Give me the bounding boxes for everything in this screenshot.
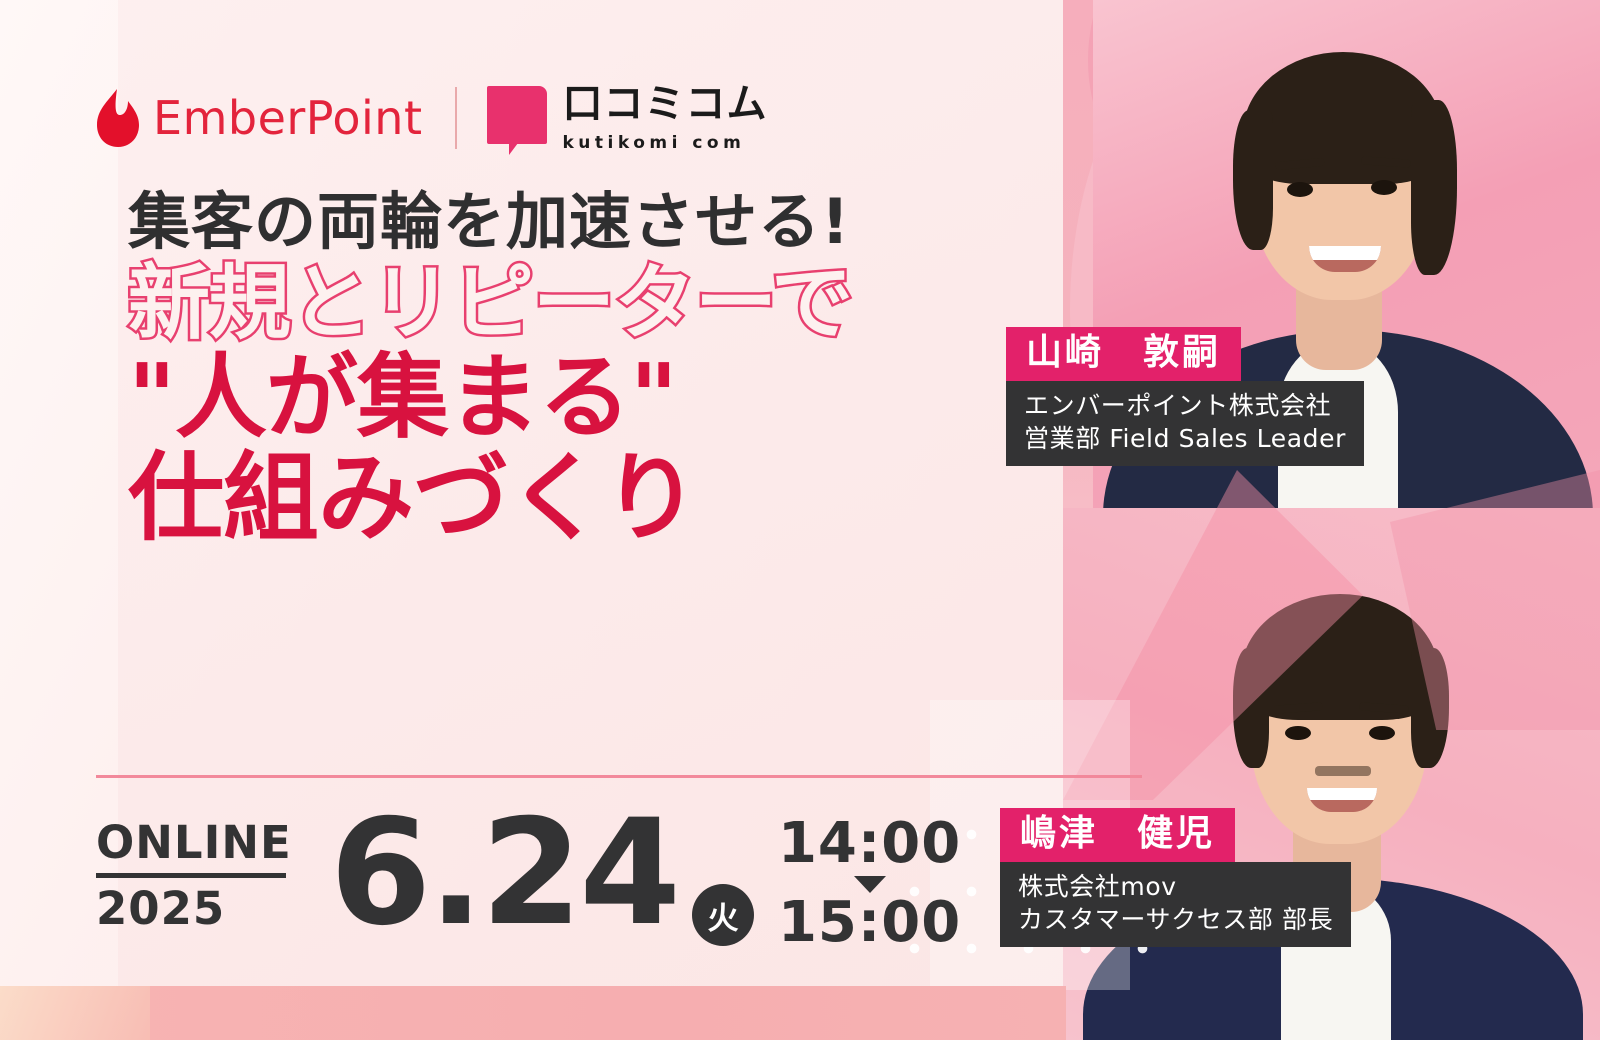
- kutikomi-text: 口コミコム kutikomi com: [563, 84, 768, 153]
- moustache: [1315, 766, 1371, 776]
- speaker-info-2: 株式会社mov カスタマーサクセス部 部長: [1000, 862, 1351, 947]
- hair-side: [1233, 110, 1273, 250]
- logo-row: EmberPoint 口コミコム kutikomi com: [95, 82, 768, 154]
- event-end-time: 15:00: [778, 895, 961, 951]
- online-underline: [96, 873, 286, 878]
- speaker-info-1: エンバーポイント株式会社 営業部 Field Sales Leader: [1006, 381, 1364, 466]
- event-date: 6.24: [330, 806, 678, 940]
- webinar-banner: EmberPoint 口コミコム kutikomi com 集客の両輪を加速させ…: [0, 0, 1600, 1040]
- teeth: [1309, 246, 1381, 260]
- headline-line-1: 集客の両輪を加速させる!: [128, 190, 1008, 253]
- event-time-group: 14:00 15:00: [778, 816, 961, 951]
- speaker-name-1: 山崎 敦嗣: [1006, 327, 1241, 381]
- flame-icon: [95, 88, 141, 148]
- speaker-photo-1: [1093, 0, 1600, 573]
- speaker-plate-1: 山崎 敦嗣 エンバーポイント株式会社 営業部 Field Sales Leade…: [1006, 327, 1364, 466]
- headline-block: 集客の両輪を加速させる! 新規とリピーターで "人が集まる" 仕組みづくり: [128, 190, 1008, 548]
- event-start-time: 14:00: [778, 816, 961, 872]
- kutikomi-logo: 口コミコム kutikomi com: [487, 84, 768, 153]
- speaker-plate-2: 嶋津 健児 株式会社mov カスタマーサクセス部 部長: [1000, 808, 1351, 947]
- speech-bubble-icon: [487, 86, 547, 144]
- day-of-week-badge: 火: [692, 884, 754, 946]
- logo-separator: [455, 87, 457, 149]
- teeth: [1307, 788, 1377, 800]
- hair-side: [1411, 100, 1457, 275]
- bottom-color-band-left: [0, 986, 150, 1040]
- event-year: 2025: [96, 886, 292, 931]
- headline-line-3: "人が集まる": [128, 351, 1008, 445]
- eye: [1371, 180, 1397, 195]
- headline-line-2: 新規とリピーターで: [128, 261, 1008, 346]
- emberpoint-wordmark: EmberPoint: [153, 95, 423, 141]
- eye: [1369, 726, 1395, 740]
- event-format-label: ONLINE: [96, 820, 292, 865]
- speaker-name-2: 嶋津 健児: [1000, 808, 1235, 862]
- headline-line-4: 仕組みづくり: [128, 450, 1008, 548]
- online-year-group: ONLINE 2025: [96, 820, 292, 931]
- eye: [1285, 726, 1311, 740]
- horizontal-divider: [96, 775, 1142, 778]
- kutikomi-latin-name: kutikomi com: [563, 133, 768, 153]
- event-details-block: ONLINE 2025 6.24 火 14:00 15:00: [96, 806, 961, 951]
- kutikomi-japanese-name: 口コミコム: [563, 84, 768, 124]
- eye: [1287, 182, 1313, 197]
- bottom-color-band: [0, 986, 1066, 1040]
- day-of-week-wrapper: 火: [692, 884, 754, 946]
